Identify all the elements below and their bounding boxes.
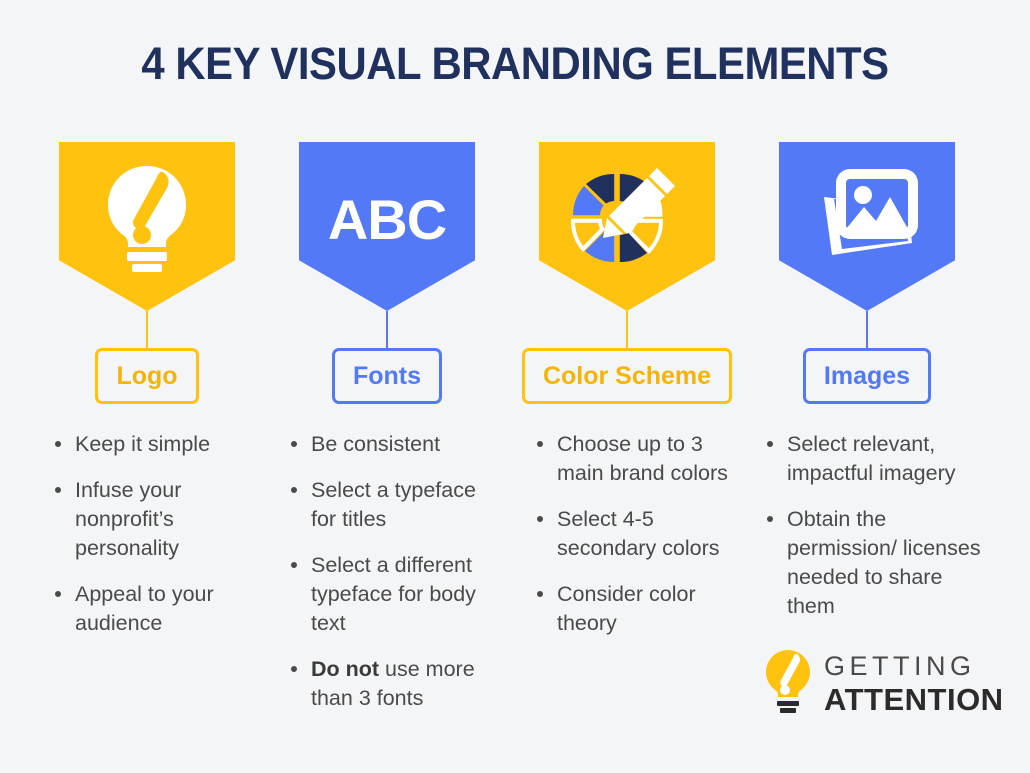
brand-line-1: GETTING — [824, 653, 1004, 680]
list-item: Select relevant, impactful imagery — [761, 430, 981, 488]
list-item-text: Consider color theory — [557, 582, 696, 635]
list-item-text: Keep it simple — [75, 432, 210, 456]
lightbulb-exclamation-icon — [99, 160, 195, 277]
list-item-text: Appeal to your audience — [75, 582, 214, 635]
list-item-text: Infuse your nonprofit’s personality — [75, 478, 181, 560]
list-item: Choose up to 3 main brand colors — [531, 430, 741, 488]
banner-fonts: ABC — [299, 142, 475, 311]
lightbulb-logo-icon — [762, 648, 814, 719]
list-item: Be consistent — [285, 430, 501, 459]
list-item: Infuse your nonprofit’s personality — [49, 476, 261, 563]
elements-row: Logo Keep it simple Infuse your nonprofi… — [0, 142, 1030, 730]
label-chip-fonts[interactable]: Fonts — [332, 348, 442, 404]
label-chip-logo[interactable]: Logo — [95, 348, 198, 404]
element-column-color-scheme: Color Scheme Choose up to 3 main brand c… — [507, 142, 747, 730]
color-wheel-pencil-icon — [571, 162, 683, 275]
list-item-text: Be consistent — [311, 432, 440, 456]
infographic-page: 4 KEY VISUAL BRANDING ELEMENTS Logo — [0, 0, 1030, 773]
list-item: Appeal to your audience — [49, 580, 261, 638]
list-item: Select a different typeface for body tex… — [285, 551, 501, 638]
list-item-text: Choose up to 3 main brand colors — [557, 432, 728, 485]
connector-line-color-scheme — [626, 311, 628, 348]
list-item: Select a typeface for titles — [285, 476, 501, 534]
brand-logo: GETTING ATTENTION — [762, 648, 1004, 719]
list-item-text: Select a typeface for titles — [311, 478, 476, 531]
label-chip-images[interactable]: Images — [803, 348, 931, 404]
brand-line-2: ATTENTION — [824, 684, 1004, 715]
list-item: Keep it simple — [49, 430, 261, 459]
photo-image-icon — [808, 163, 926, 274]
connector-line-logo — [146, 311, 148, 348]
element-column-images: Images Select relevant, impactful imager… — [747, 142, 987, 730]
bullet-list-color-scheme: Choose up to 3 main brand colors Select … — [507, 430, 747, 655]
list-item-text: Select relevant, impactful imagery — [787, 432, 955, 485]
banner-color-scheme — [539, 142, 715, 311]
banner-logo — [59, 142, 235, 311]
banner-images — [779, 142, 955, 311]
list-item-text: Obtain the permission/ licenses needed t… — [787, 507, 981, 618]
element-column-logo: Logo Keep it simple Infuse your nonprofi… — [27, 142, 267, 730]
abc-text-icon: ABC — [328, 187, 446, 252]
bullet-list-images: Select relevant, impactful imagery Obtai… — [747, 430, 987, 638]
list-item: Do not use more than 3 fonts — [285, 655, 501, 713]
list-item: Consider color theory — [531, 580, 741, 638]
connector-line-fonts — [386, 311, 388, 348]
list-item-emphasis: Do not — [311, 657, 379, 681]
label-chip-color-scheme[interactable]: Color Scheme — [522, 348, 732, 404]
brand-wordmark: GETTING ATTENTION — [824, 653, 1004, 715]
list-item-text: Select a different typeface for body tex… — [311, 553, 476, 635]
element-column-fonts: ABC Fonts Be consistent Select a typefac… — [267, 142, 507, 730]
page-title: 4 KEY VISUAL BRANDING ELEMENTS — [36, 38, 994, 90]
connector-line-images — [866, 311, 868, 348]
bullet-list-logo: Keep it simple Infuse your nonprofit’s p… — [27, 430, 267, 655]
list-item: Select 4-5 secondary colors — [531, 505, 741, 563]
list-item: Obtain the permission/ licenses needed t… — [761, 505, 981, 621]
list-item-text: Select 4-5 secondary colors — [557, 507, 720, 560]
bullet-list-fonts: Be consistent Select a typeface for titl… — [267, 430, 507, 730]
